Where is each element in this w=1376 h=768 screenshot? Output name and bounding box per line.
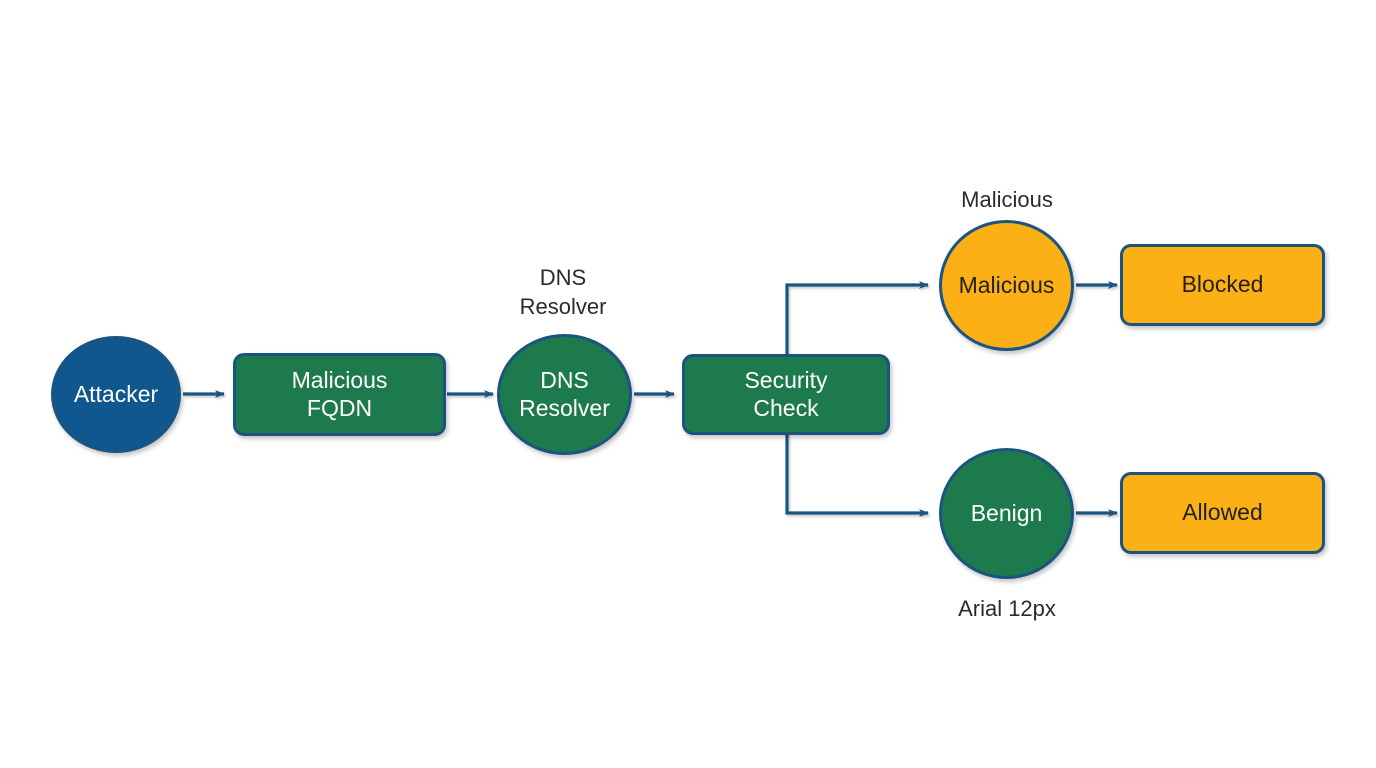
node-malicious-fqdn[interactable]: Malicious FQDN [233,353,446,436]
node-dns-resolver[interactable]: DNS Resolver [497,334,632,455]
node-benign[interactable]: Benign [939,448,1074,579]
edge-security-check-to-benign [787,432,928,513]
node-security-check[interactable]: Security Check [682,354,890,435]
diagram-canvas: Attacker Malicious FQDN DNS Resolver DNS… [0,0,1376,768]
node-malicious[interactable]: Malicious [939,220,1074,351]
node-blocked[interactable]: Blocked [1120,244,1325,326]
dns-resolver-caption: DNS Resolver [463,263,663,321]
font-caption: Arial 12px [907,594,1107,623]
node-attacker[interactable]: Attacker [51,336,181,453]
edge-security-check-to-malicious [787,285,928,357]
malicious-caption: Malicious [907,185,1107,214]
node-allowed[interactable]: Allowed [1120,472,1325,554]
